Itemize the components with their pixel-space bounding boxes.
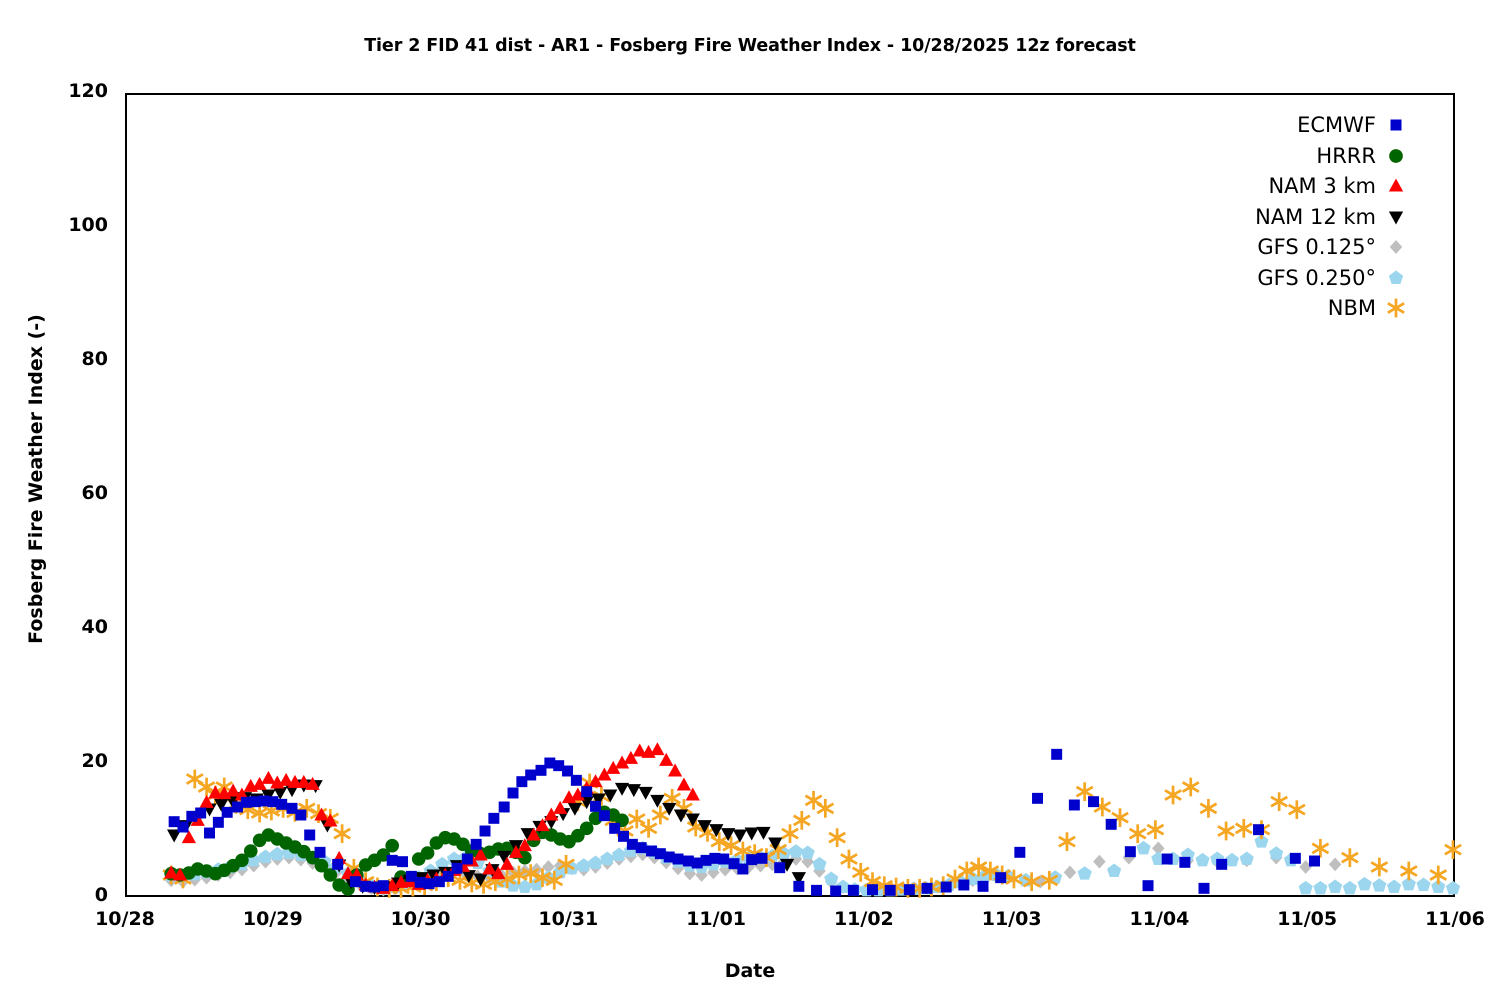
legend-item-gfs-0-125[interactable]: GFS 0.125°: [1150, 232, 1410, 263]
y-tick-label: 20: [40, 750, 108, 772]
x-tick-label: 10/28: [95, 908, 155, 930]
y-tick-label: 40: [40, 616, 108, 638]
series-ecmwf: [169, 749, 1320, 897]
x-axis-label: Date: [0, 960, 1500, 982]
diamond-marker-icon: [1386, 237, 1406, 257]
y-tick-label: 120: [40, 80, 108, 102]
chart-title: Tier 2 FID 41 dist - AR1 - Fosberg Fire …: [0, 36, 1500, 56]
legend-item-ecmwf[interactable]: ECMWF: [1150, 110, 1410, 141]
y-tick-label: 0: [40, 884, 108, 906]
circle-marker-icon: [1386, 146, 1406, 166]
x-tick-label: 11/03: [982, 908, 1042, 930]
y-tick-label: 80: [40, 348, 108, 370]
x-tick-label: 10/30: [391, 908, 451, 930]
triangle-up-marker-icon: [1386, 176, 1406, 196]
x-tick-label: 10/29: [243, 908, 303, 930]
x-tick-label: 11/04: [1130, 908, 1190, 930]
legend-item-hrrr[interactable]: HRRR: [1150, 141, 1410, 172]
legend-item-nbm[interactable]: NBM: [1150, 293, 1410, 324]
triangle-down-marker-icon: [1386, 207, 1406, 227]
legend-item-nam-12-km[interactable]: NAM 12 km: [1150, 202, 1410, 233]
y-tick-label: 100: [40, 214, 108, 236]
legend-item-gfs-0-250[interactable]: GFS 0.250°: [1150, 263, 1410, 294]
asterisk-marker-icon: [1386, 298, 1406, 318]
x-tick-label: 11/05: [1277, 908, 1337, 930]
x-tick-label: 10/31: [538, 908, 598, 930]
x-tick-label: 11/06: [1425, 908, 1485, 930]
square-marker-icon: [1386, 115, 1406, 135]
x-tick-label: 11/02: [834, 908, 894, 930]
x-tick-label: 11/01: [686, 908, 746, 930]
y-tick-label: 60: [40, 482, 108, 504]
legend-item-nam-3-km[interactable]: NAM 3 km: [1150, 171, 1410, 202]
pentagon-marker-icon: [1386, 268, 1406, 288]
chart-page: Tier 2 FID 41 dist - AR1 - Fosberg Fire …: [0, 0, 1500, 1000]
chart-legend: ECMWFHRRRNAM 3 kmNAM 12 kmGFS 0.125°GFS …: [1150, 110, 1410, 324]
